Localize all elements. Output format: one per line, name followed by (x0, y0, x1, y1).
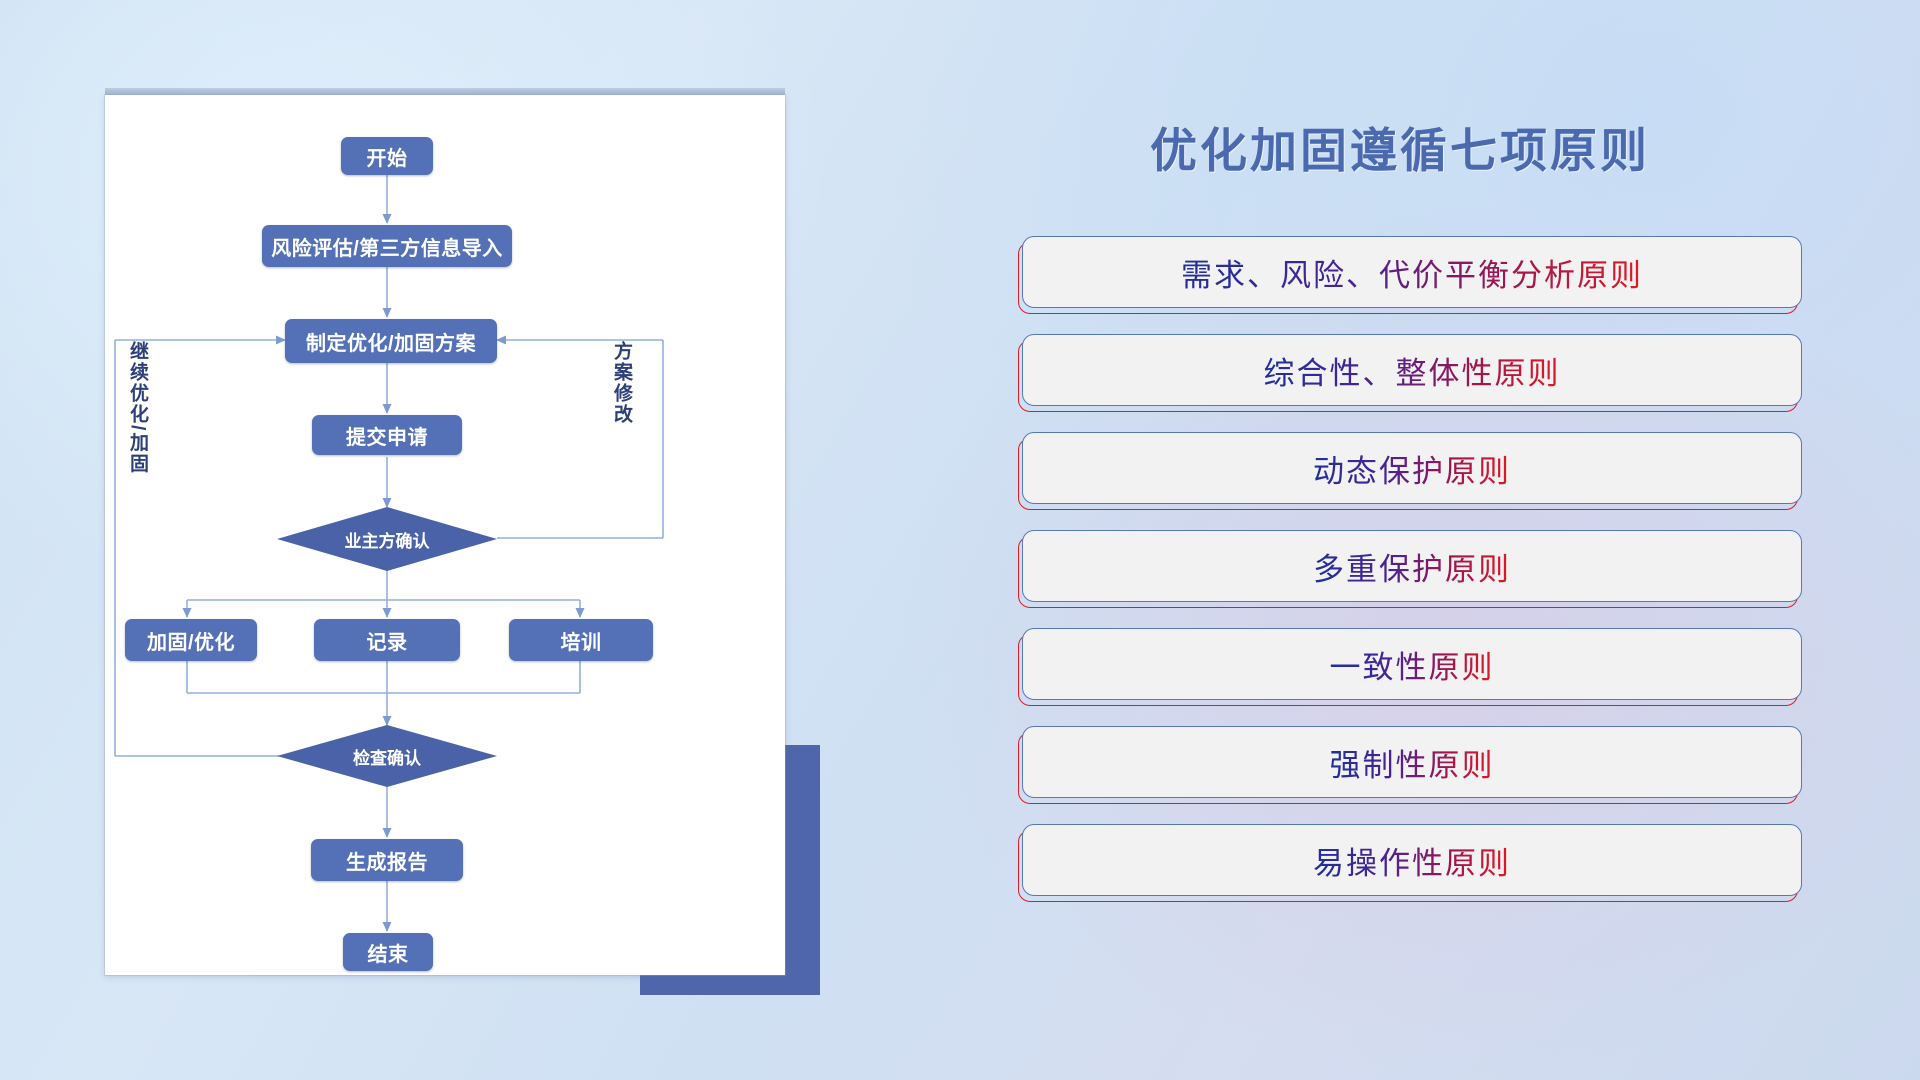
principle-item-5[interactable]: 一致性原则 (1022, 628, 1802, 700)
flow-node-make-plan[interactable]: 制定优化/加固方案 (285, 319, 497, 363)
flow-node-label: 检查确认 (353, 744, 421, 769)
principle-item-4[interactable]: 多重保护原则 (1022, 530, 1802, 602)
card-top-accent-line (105, 88, 785, 95)
flowchart: 开始 风险评估/第三方信息导入 制定优化/加固方案 提交申请 业主方确认 加固/… (105, 95, 785, 975)
flow-node-label: 结束 (368, 938, 409, 967)
principles-list: 需求、风险、代价平衡分析原则 综合性、整体性原则 动态保护原则 多重保护原则 一 (1022, 236, 1802, 922)
principle-label: 一致性原则 (1330, 642, 1495, 687)
principle-body[interactable]: 综合性、整体性原则 (1022, 334, 1802, 406)
flow-node-label: 风险评估/第三方信息导入 (271, 232, 503, 261)
principle-label: 动态保护原则 (1313, 446, 1511, 491)
flow-node-start[interactable]: 开始 (341, 137, 433, 175)
flow-node-label: 开始 (367, 142, 408, 171)
edge-label-continue-optimize: 继续优化/加固 (127, 341, 147, 474)
edge-label-plan-revision: 方案修改 (611, 341, 631, 425)
flow-node-submit-application[interactable]: 提交申请 (312, 415, 462, 455)
principle-label: 综合性、整体性原则 (1264, 348, 1561, 393)
principle-item-7[interactable]: 易操作性原则 (1022, 824, 1802, 896)
slide-canvas: 开始 风险评估/第三方信息导入 制定优化/加固方案 提交申请 业主方确认 加固/… (0, 0, 1920, 1080)
principle-body[interactable]: 一致性原则 (1022, 628, 1802, 700)
flow-node-label: 制定优化/加固方案 (306, 327, 476, 356)
flow-node-record[interactable]: 记录 (314, 619, 460, 661)
principle-label: 需求、风险、代价平衡分析原则 (1181, 250, 1643, 295)
flowchart-card: 开始 风险评估/第三方信息导入 制定优化/加固方案 提交申请 业主方确认 加固/… (105, 95, 785, 975)
flow-node-reinforce-optimize[interactable]: 加固/优化 (125, 619, 257, 661)
flow-node-label: 业主方确认 (345, 527, 430, 552)
principle-item-2[interactable]: 综合性、整体性原则 (1022, 334, 1802, 406)
flow-node-label: 加固/优化 (147, 626, 235, 655)
flow-node-end[interactable]: 结束 (343, 933, 433, 971)
principle-body[interactable]: 动态保护原则 (1022, 432, 1802, 504)
principle-label: 强制性原则 (1330, 740, 1495, 785)
flow-node-label: 记录 (367, 626, 408, 655)
principle-body[interactable]: 需求、风险、代价平衡分析原则 (1022, 236, 1802, 308)
flow-node-label: 生成报告 (346, 846, 428, 875)
principle-item-1[interactable]: 需求、风险、代价平衡分析原则 (1022, 236, 1802, 308)
flow-node-label: 提交申请 (346, 421, 428, 450)
principle-body[interactable]: 强制性原则 (1022, 726, 1802, 798)
principle-item-6[interactable]: 强制性原则 (1022, 726, 1802, 798)
flow-node-generate-report[interactable]: 生成报告 (311, 839, 463, 881)
principle-body[interactable]: 多重保护原则 (1022, 530, 1802, 602)
flow-node-label: 培训 (561, 626, 602, 655)
flow-node-risk-assessment[interactable]: 风险评估/第三方信息导入 (262, 225, 512, 267)
principle-item-3[interactable]: 动态保护原则 (1022, 432, 1802, 504)
principle-label: 多重保护原则 (1313, 544, 1511, 589)
principle-body[interactable]: 易操作性原则 (1022, 824, 1802, 896)
page-title: 优化加固遵循七项原则 (1020, 112, 1780, 181)
principle-label: 易操作性原则 (1313, 838, 1511, 883)
flow-node-training[interactable]: 培训 (509, 619, 653, 661)
